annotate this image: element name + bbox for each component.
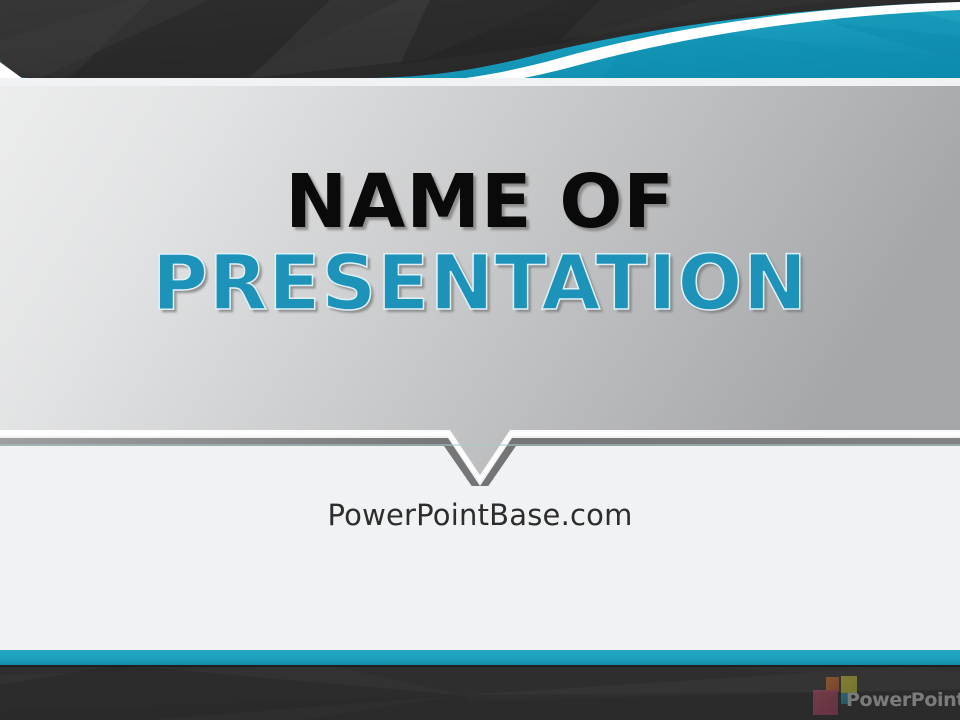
slide-header-band bbox=[0, 0, 960, 86]
logo-wordmark: PowerPointBase bbox=[846, 689, 960, 711]
logo-word-primary: PowerPoint bbox=[846, 689, 960, 711]
powerpointbase-logo[interactable]: PowerPointBase bbox=[812, 676, 958, 716]
footer-accent-strip bbox=[0, 650, 960, 665]
subtitle-text: PowerPointBase.com bbox=[0, 498, 960, 532]
title-banner bbox=[0, 86, 960, 486]
logo-square-orange bbox=[826, 677, 839, 691]
logo-square-pink bbox=[813, 690, 838, 715]
presentation-slide: NAME OF PRESENTATION PowerPointBase.com … bbox=[0, 0, 960, 720]
